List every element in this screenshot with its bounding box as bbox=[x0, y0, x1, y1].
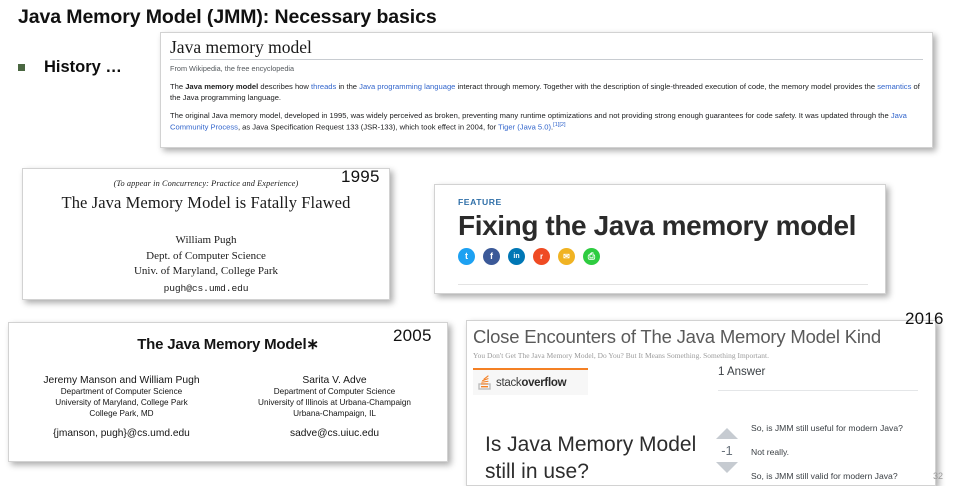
wiki-p2-text-a: The original Java memory model, develope… bbox=[170, 111, 891, 120]
wikipedia-paragraph-2: The original Java memory model, develope… bbox=[170, 110, 923, 133]
answer-divider bbox=[718, 390, 918, 391]
answer-line: Not really. bbox=[751, 448, 936, 457]
wikipedia-article-title: Java memory model bbox=[170, 37, 923, 60]
twitter-share-icon[interactable]: t bbox=[458, 248, 475, 265]
year-label-2005: 2005 bbox=[393, 326, 432, 346]
facebook-share-icon[interactable]: f bbox=[483, 248, 500, 265]
wiki-p1-bold: Java memory model bbox=[185, 82, 258, 91]
reddit-share-icon[interactable]: r bbox=[533, 248, 550, 265]
so-word-overflow: overflow bbox=[521, 377, 566, 389]
blog-2016-card: Close Encounters of The Java Memory Mode… bbox=[466, 320, 936, 486]
wiki-p2-text-b: , as Java Specification Request 133 (JSR… bbox=[238, 123, 498, 132]
wiki-p1-text-b: describes how bbox=[258, 82, 311, 91]
feature-article-card: FEATURE Fixing the Java memory model t f… bbox=[434, 184, 886, 294]
bullet-item-history: History … bbox=[18, 58, 122, 77]
wiki-link-threads[interactable]: threads bbox=[311, 82, 336, 91]
answer-line: So, is JMM still valid for modern Java? bbox=[751, 472, 936, 481]
so-word-stack: stack bbox=[496, 377, 521, 389]
wikipedia-screenshot-card: Java memory model From Wikipedia, the fr… bbox=[160, 32, 933, 148]
downvote-icon[interactable] bbox=[716, 462, 738, 473]
wiki-link-semantics[interactable]: semantics bbox=[877, 82, 911, 91]
paper-2005-left-dept: Department of Computer Science bbox=[15, 387, 228, 398]
stackoverflow-logo[interactable]: stackoverflow bbox=[473, 368, 588, 395]
feature-article-title: Fixing the Java memory model bbox=[458, 210, 885, 241]
wiki-p1-text-d: interact through memory. Together with t… bbox=[455, 82, 877, 91]
feature-kicker-label: FEATURE bbox=[458, 197, 885, 207]
paper-2005-card: The Java Memory Model∗ Jeremy Manson and… bbox=[8, 322, 448, 462]
linkedin-share-icon[interactable]: in bbox=[508, 248, 525, 265]
wiki-link-tiger-java5[interactable]: Tiger (Java 5.0) bbox=[498, 123, 551, 132]
paper-2005-author-left: Jeremy Manson and William Pugh Departmen… bbox=[15, 375, 228, 439]
paper-2005-right-names: Sarita V. Adve bbox=[228, 375, 441, 386]
wikipedia-byline: From Wikipedia, the free encyclopedia bbox=[170, 64, 923, 73]
email-share-icon[interactable]: ✉ bbox=[558, 248, 575, 265]
upvote-icon[interactable] bbox=[716, 428, 738, 439]
answer-count-header: 1 Answer bbox=[718, 366, 765, 378]
year-label-1995: 1995 bbox=[341, 167, 380, 187]
blog-title: Close Encounters of The Java Memory Mode… bbox=[473, 327, 935, 347]
paper-2005-left-names: Jeremy Manson and William Pugh bbox=[15, 375, 228, 386]
paper-2005-right-dept: Department of Computer Science bbox=[228, 387, 441, 398]
slide-canvas: Java Memory Model (JMM): Necessary basic… bbox=[0, 0, 955, 486]
wikipedia-paragraph-1: The Java memory model describes how thre… bbox=[170, 81, 923, 103]
blog-subtitle: You Don't Get The Java Memory Model, Do … bbox=[473, 351, 935, 360]
paper-2005-title: The Java Memory Model∗ bbox=[9, 335, 447, 353]
paper-2005-left-city: College Park, MD bbox=[15, 409, 228, 420]
answer-line: So, is JMM still useful for modern Java? bbox=[751, 424, 936, 433]
bullet-item-label: History … bbox=[44, 58, 122, 77]
wiki-link-java-programming-language[interactable]: Java programming language bbox=[359, 82, 455, 91]
paper-2005-right-city: Urbana-Champaign, IL bbox=[228, 409, 441, 420]
wiki-p1-text-c: in the bbox=[336, 82, 359, 91]
paper-2005-author-right: Sarita V. Adve Department of Computer Sc… bbox=[228, 375, 441, 439]
paper-1995-university: Univ. of Maryland, College Park bbox=[23, 264, 389, 280]
paper-2005-right-university: University of Illinois at Urbana-Champai… bbox=[228, 398, 441, 409]
paper-1995-email: pugh@cs.umd.edu bbox=[23, 282, 389, 296]
paper-2005-right-email: sadve@cs.uiuc.edu bbox=[228, 428, 441, 439]
paper-2005-authors: Jeremy Manson and William Pugh Departmen… bbox=[9, 375, 447, 439]
slide-page-number: 32 bbox=[933, 471, 943, 481]
square-bullet-icon bbox=[18, 64, 25, 71]
paper-1995-card: (To appear in Concurrency: Practice and … bbox=[22, 168, 390, 300]
social-share-row: t f in r ✉ ⎙ bbox=[458, 248, 885, 265]
page-title: Java Memory Model (JMM): Necessary basic… bbox=[18, 6, 437, 29]
vote-control: -1 bbox=[711, 428, 743, 473]
stackoverflow-glyph-icon bbox=[478, 375, 492, 390]
stackoverflow-wordmark: stackoverflow bbox=[496, 377, 566, 389]
stackoverflow-question-title[interactable]: Is Java Memory Model still in use? bbox=[485, 432, 705, 486]
wiki-citation-refs[interactable]: [1][2] bbox=[553, 122, 565, 128]
year-label-2016: 2016 bbox=[905, 309, 944, 329]
vote-count: -1 bbox=[721, 443, 733, 458]
paper-2005-left-email: {jmanson, pugh}@cs.umd.edu bbox=[15, 428, 228, 439]
wiki-p1-text-a: The bbox=[170, 82, 185, 91]
paper-1995-dept: Dept. of Computer Science bbox=[23, 249, 389, 265]
paper-1995-author: William Pugh bbox=[23, 233, 389, 249]
print-icon[interactable]: ⎙ bbox=[583, 248, 600, 265]
paper-1995-title: The Java Memory Model is Fatally Flawed bbox=[23, 193, 389, 213]
paper-1995-venue: (To appear in Concurrency: Practice and … bbox=[23, 179, 389, 188]
answer-body: So, is JMM still useful for modern Java?… bbox=[751, 424, 936, 486]
feature-divider bbox=[458, 284, 868, 285]
paper-1995-author-block: William Pugh Dept. of Computer Science U… bbox=[23, 233, 389, 295]
paper-2005-left-university: University of Maryland, College Park bbox=[15, 398, 228, 409]
